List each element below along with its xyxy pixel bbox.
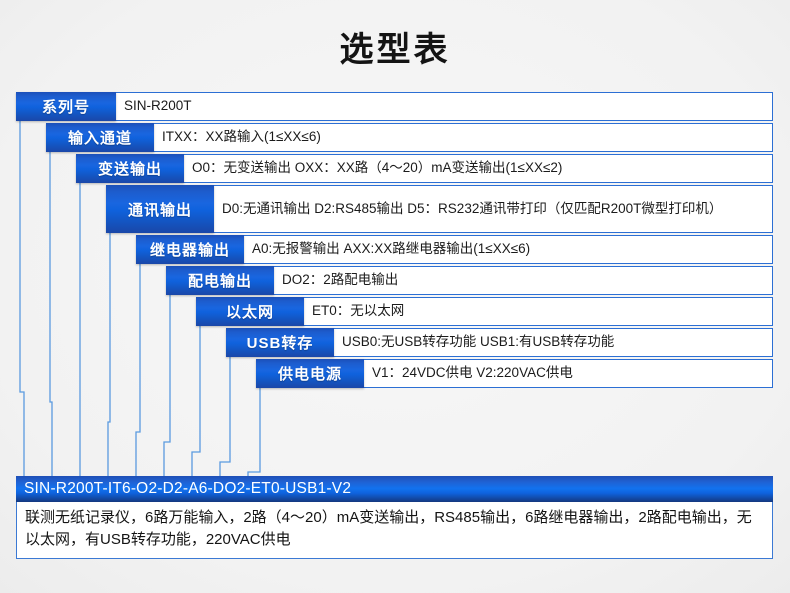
spec-row: 以太网ET0：无以太网	[196, 297, 773, 326]
spec-row: 继电器输出A0:无报警输出 AXX:XX路继电器输出(1≤XX≤6)	[136, 235, 773, 264]
spec-row-label: 供电电源	[256, 359, 364, 388]
spec-row-value: ET0：无以太网	[304, 297, 773, 326]
connector-line	[20, 121, 24, 476]
spec-row-value: DO2：2路配电输出	[274, 266, 773, 295]
spec-row-label: 继电器输出	[136, 235, 244, 264]
spec-row: 变送输出O0：无变送输出 OXX：XX路（4～20）mA变送输出(1≤XX≤2)	[76, 154, 773, 183]
page-title: 选型表	[0, 22, 790, 71]
summary-description: 联测无纸记录仪，6路万能输入，2路（4～20）mA变送输出，RS485输出，6路…	[16, 502, 773, 559]
spec-row-value: USB0:无USB转存功能 USB1:有USB转存功能	[334, 328, 773, 357]
summary-block: SIN-R200T-IT6-O2-D2-A6-DO2-ET0-USB1-V2 联…	[16, 476, 773, 559]
spec-row-label: 系列号	[16, 92, 116, 121]
spec-row-label: 以太网	[196, 297, 304, 326]
connector-line	[108, 233, 110, 476]
spec-row: 供电电源V1：24VDC供电 V2:220VAC供电	[256, 359, 773, 388]
summary-model-code: SIN-R200T-IT6-O2-D2-A6-DO2-ET0-USB1-V2	[16, 476, 773, 502]
connector-line	[192, 326, 200, 476]
spec-row-label: 通讯输出	[106, 185, 214, 233]
spec-row-value: D0:无通讯输出 D2:RS485输出 D5：RS232通讯带打印（仅匹配R20…	[214, 185, 773, 233]
connector-line	[248, 388, 260, 476]
connector-line	[220, 357, 230, 476]
selection-table-page: 选型表 系列号SIN-R200T输入通道ITXX：XX路输入(1≤XX≤6)变送…	[0, 0, 790, 593]
spec-row-value: A0:无报警输出 AXX:XX路继电器输出(1≤XX≤6)	[244, 235, 773, 264]
spec-row: 输入通道ITXX：XX路输入(1≤XX≤6)	[46, 123, 773, 152]
connector-line	[50, 152, 52, 476]
spec-row-label: 配电输出	[166, 266, 274, 295]
spec-row-label: 变送输出	[76, 154, 184, 183]
spec-row-value: ITXX：XX路输入(1≤XX≤6)	[154, 123, 773, 152]
connector-line	[164, 295, 170, 476]
spec-row-label: USB转存	[226, 328, 334, 357]
spec-row: USB转存USB0:无USB转存功能 USB1:有USB转存功能	[226, 328, 773, 357]
spec-row: 配电输出DO2：2路配电输出	[166, 266, 773, 295]
spec-row-label: 输入通道	[46, 123, 154, 152]
spec-row: 系列号SIN-R200T	[16, 92, 773, 121]
spec-row-value: V1：24VDC供电 V2:220VAC供电	[364, 359, 773, 388]
spec-row: 通讯输出D0:无通讯输出 D2:RS485输出 D5：RS232通讯带打印（仅匹…	[106, 185, 773, 233]
connector-line	[136, 264, 140, 476]
spec-row-value: O0：无变送输出 OXX：XX路（4～20）mA变送输出(1≤XX≤2)	[184, 154, 773, 183]
spec-row-value: SIN-R200T	[116, 92, 773, 121]
